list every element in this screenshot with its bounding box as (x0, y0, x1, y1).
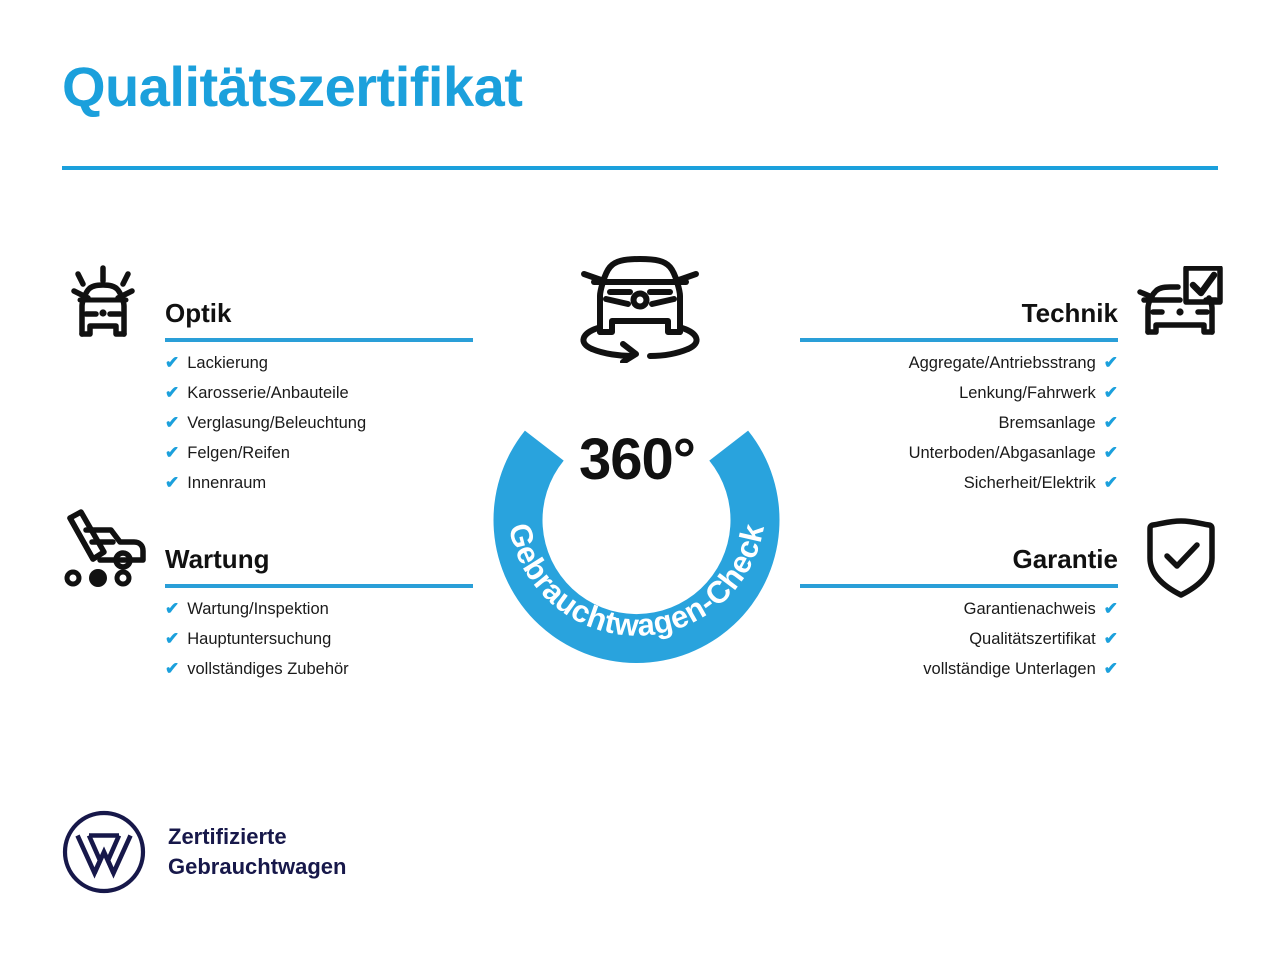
volkswagen-logo (62, 810, 146, 894)
section-underline-wartung (165, 584, 473, 588)
list-item-label: Lenkung/Fahrwerk (959, 378, 1096, 408)
list-item-label: vollständiges Zubehör (187, 654, 348, 684)
section-technik: Technik Aggregate/Antriebsstrang✔ Lenkun… (800, 296, 1118, 498)
page-title: Qualitätszertifikat (62, 58, 522, 117)
check-icon: ✔ (1104, 408, 1118, 438)
check-icon: ✔ (1104, 378, 1118, 408)
list-item-label: Unterboden/Abgasanlage (909, 438, 1096, 468)
check-icon: ✔ (165, 438, 179, 468)
list-item: ✔Wartung/Inspektion (165, 594, 473, 624)
list-item-label: Hauptuntersuchung (187, 624, 331, 654)
list-item-label: Felgen/Reifen (187, 438, 290, 468)
check-icon: ✔ (1104, 594, 1118, 624)
section-title-garantie: Garantie (800, 542, 1118, 576)
list-item: ✔Karosserie/Anbauteile (165, 378, 473, 408)
checklist-technik: Aggregate/Antriebsstrang✔ Lenkung/Fahrwe… (800, 348, 1118, 498)
section-header-optik: Optik (165, 296, 473, 348)
section-wartung: Wartung ✔Wartung/Inspektion ✔Hauptunters… (165, 542, 473, 684)
list-item: Bremsanlage✔ (800, 408, 1118, 438)
check-icon: ✔ (1104, 654, 1118, 684)
list-item-label: Karosserie/Anbauteile (187, 378, 348, 408)
checklist-optik: ✔Lackierung ✔Karosserie/Anbauteile ✔Verg… (165, 348, 473, 498)
list-item: vollständige Unterlagen✔ (800, 654, 1118, 684)
check-icon: ✔ (1104, 468, 1118, 498)
list-item: Unterboden/Abgasanlage✔ (800, 438, 1118, 468)
list-item: Garantienachweis✔ (800, 594, 1118, 624)
badge-ring: Gebrauchtwagen-Check (464, 334, 809, 679)
list-item: ✔Lackierung (165, 348, 473, 378)
section-underline-optik (165, 338, 473, 342)
section-underline-garantie (800, 584, 1118, 588)
section-optik: Optik ✔Lackierung ✔Karosserie/Anbauteile… (165, 296, 473, 498)
list-item: ✔Verglasung/Beleuchtung (165, 408, 473, 438)
check-icon: ✔ (1104, 438, 1118, 468)
list-item: ✔Hauptuntersuchung (165, 624, 473, 654)
section-header-wartung: Wartung (165, 542, 473, 594)
list-item: ✔vollständiges Zubehör (165, 654, 473, 684)
footer-brand: Zertifizierte Gebrauchtwagen (62, 810, 346, 894)
list-item: ✔Felgen/Reifen (165, 438, 473, 468)
list-item-label: vollständige Unterlagen (923, 654, 1095, 684)
section-title-wartung: Wartung (165, 542, 473, 576)
list-item: Lenkung/Fahrwerk✔ (800, 378, 1118, 408)
list-item-label: Bremsanlage (999, 408, 1096, 438)
list-item: Sicherheit/Elektrik✔ (800, 468, 1118, 498)
check-icon: ✔ (165, 654, 179, 684)
gebrauchtwagen-check-badge: Gebrauchtwagen-Check 360° (452, 248, 822, 638)
list-item-label: Garantienachweis (964, 594, 1096, 624)
check-icon: ✔ (165, 468, 179, 498)
list-item: Qualitätszertifikat✔ (800, 624, 1118, 654)
section-header-garantie: Garantie (800, 542, 1118, 594)
checklist-wartung: ✔Wartung/Inspektion ✔Hauptuntersuchung ✔… (165, 594, 473, 684)
section-title-optik: Optik (165, 296, 473, 330)
section-title-technik: Technik (800, 296, 1118, 330)
section-underline-technik (800, 338, 1118, 342)
check-icon: ✔ (165, 624, 179, 654)
car-pencil-service-icon (56, 506, 152, 599)
badge-center-label: 360° (452, 426, 822, 493)
shield-check-icon (1143, 516, 1219, 605)
car-checkbox-icon (1136, 266, 1224, 345)
checklist-garantie: Garantienachweis✔ Qualitätszertifikat✔ v… (800, 594, 1118, 684)
check-icon: ✔ (1104, 348, 1118, 378)
check-icon: ✔ (1104, 624, 1118, 654)
list-item: ✔Innenraum (165, 468, 473, 498)
list-item-label: Innenraum (187, 468, 266, 498)
check-icon: ✔ (165, 594, 179, 624)
footer-brand-text: Zertifizierte Gebrauchtwagen (168, 822, 346, 882)
list-item-label: Wartung/Inspektion (187, 594, 329, 624)
list-item-label: Lackierung (187, 348, 268, 378)
section-garantie: Garantie Garantienachweis✔ Qualitätszert… (800, 542, 1118, 684)
list-item-label: Aggregate/Antriebsstrang (909, 348, 1096, 378)
check-icon: ✔ (165, 378, 179, 408)
check-icon: ✔ (165, 348, 179, 378)
list-item-label: Qualitätszertifikat (969, 624, 1096, 654)
title-divider (62, 166, 1218, 170)
list-item-label: Verglasung/Beleuchtung (187, 408, 366, 438)
check-icon: ✔ (165, 408, 179, 438)
section-header-technik: Technik (800, 296, 1118, 348)
list-item-label: Sicherheit/Elektrik (964, 468, 1096, 498)
car-shine-icon (58, 256, 148, 351)
list-item: Aggregate/Antriebsstrang✔ (800, 348, 1118, 378)
